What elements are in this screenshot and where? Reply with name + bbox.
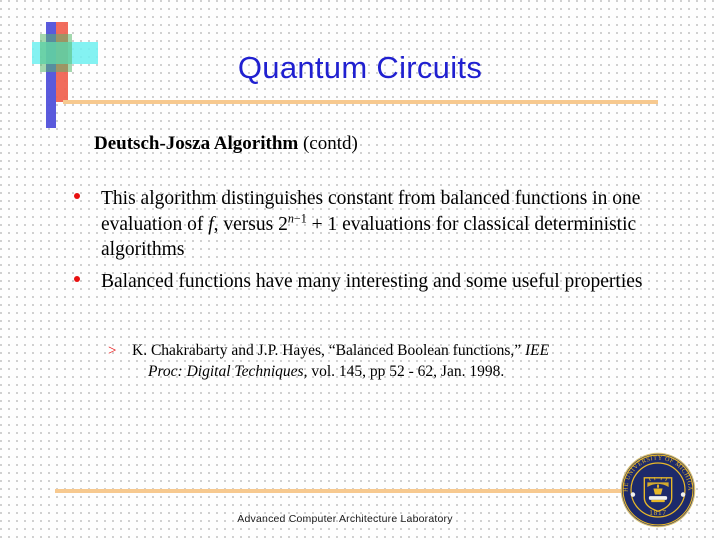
citation-line2: Proc: Digital Techniques, vol. 145, pp 5… xyxy=(132,362,688,383)
bullet-text-1: This algorithm distinguishes constant fr… xyxy=(101,188,640,260)
bullet-text-2: Balanced functions have many interesting… xyxy=(101,271,643,292)
citation-text: K. Chakrabarty and J.P. Hayes, “Balanced… xyxy=(132,342,688,382)
citation-line2-plain: , vol. 145, pp 52 - 62, Jan. 1998. xyxy=(304,363,505,380)
footer-label: Advanced Computer Architecture Laborator… xyxy=(0,513,690,525)
seal-year-text: 1817 xyxy=(649,509,666,517)
list-item: > K. Chakrabarty and J.P. Hayes, “Balanc… xyxy=(108,341,688,382)
subtitle-plain-part: (contd) xyxy=(298,133,358,154)
citation-line2-italic: Proc: Digital Techniques xyxy=(148,363,304,380)
round-bullet-icon xyxy=(74,276,80,282)
bullet-list: This algorithm distinguishes constant fr… xyxy=(72,186,682,300)
citation-block: > K. Chakrabarty and J.P. Hayes, “Balanc… xyxy=(108,341,688,382)
chevron-right-bullet-icon: > xyxy=(108,342,116,361)
round-bullet-icon xyxy=(74,193,80,199)
list-item: This algorithm distinguishes constant fr… xyxy=(72,186,682,263)
bullet1-text-part2: , versus 2 xyxy=(214,214,288,235)
seal-svg: THE UNIVERSITY OF MICHIGAN 1817 xyxy=(620,452,696,528)
slide-canvas: Quantum Circuits Deutsch-Josza Algorithm… xyxy=(0,0,720,540)
page-title: Quantum Circuits xyxy=(0,50,720,86)
header-divider-rule xyxy=(63,100,658,104)
bullet1-sup-rest: −1 xyxy=(294,211,307,225)
subtitle: Deutsch-Josza Algorithm (contd) xyxy=(94,133,358,155)
citation-line1-italic: IEE xyxy=(525,342,549,359)
university-of-michigan-seal-icon: THE UNIVERSITY OF MICHIGAN 1817 xyxy=(620,452,696,528)
list-item: Balanced functions have many interesting… xyxy=(72,269,682,295)
citation-line1-plain: K. Chakrabarty and J.P. Hayes, “Balanced… xyxy=(132,342,525,359)
subtitle-bold-part: Deutsch-Josza Algorithm xyxy=(94,133,298,154)
bullet1-superscript: n−1 xyxy=(288,211,307,225)
footer-divider-rule xyxy=(55,489,625,493)
